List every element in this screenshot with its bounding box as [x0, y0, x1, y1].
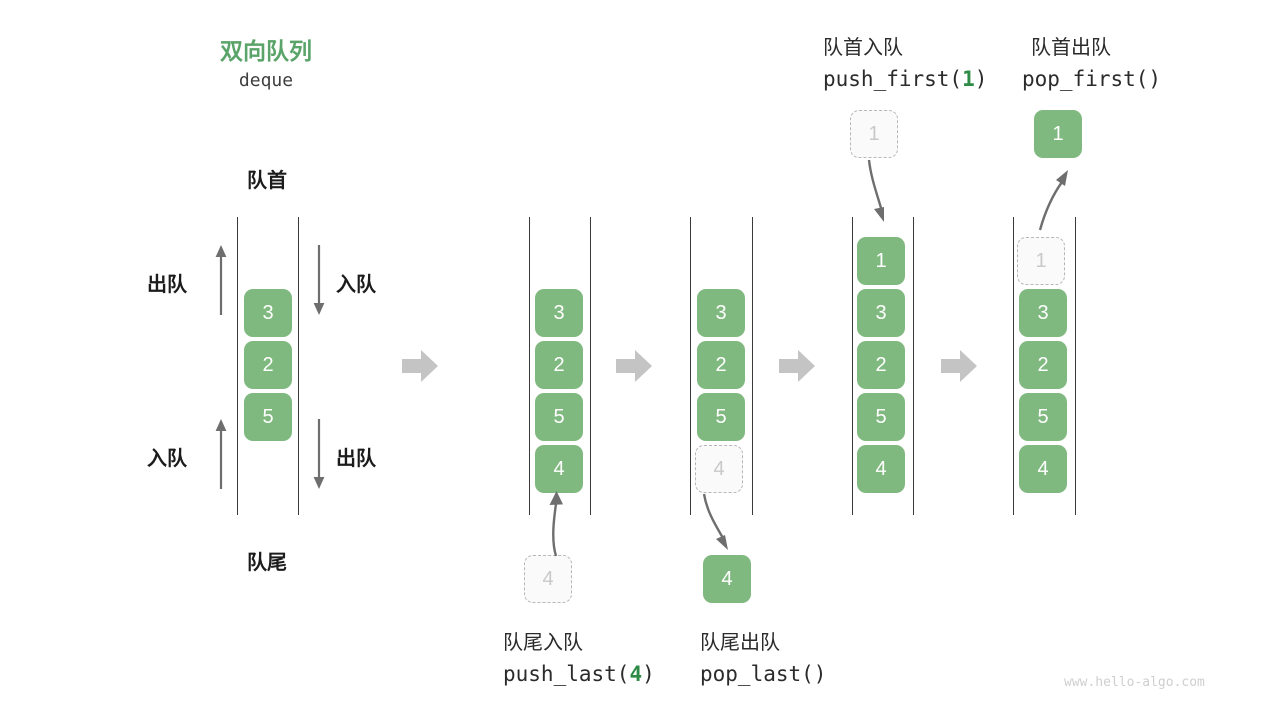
- code-arg: 4: [629, 662, 642, 686]
- deque-item: 5: [1019, 393, 1067, 441]
- code-text: push_first(: [823, 67, 962, 91]
- code-text: ): [642, 662, 655, 686]
- deque-item: 3: [535, 289, 583, 337]
- caption-pop-first-code: pop_first(): [1022, 67, 1161, 91]
- removed-element-ghost: 1: [1017, 237, 1065, 285]
- deque-item: 5: [697, 393, 745, 441]
- deque-diagram: 双向队列 deque 队首 队尾 3 2 5 出队 入队 入队 出队 3 2 5…: [0, 0, 1280, 720]
- code-text: ): [975, 67, 988, 91]
- push-last-motion-arrow-icon: [534, 488, 574, 558]
- caption-push-first-code: push_first(1): [823, 67, 987, 91]
- deque-item: 5: [244, 393, 292, 441]
- diagram-title-en: deque: [166, 70, 366, 91]
- pop-first-motion-arrow-icon: [1018, 160, 1074, 232]
- deque-item: 4: [857, 445, 905, 493]
- deque-item: 3: [697, 289, 745, 337]
- deque-item: 5: [857, 393, 905, 441]
- caption-push-last-code: push_last(4): [503, 662, 655, 686]
- deque-item: 3: [244, 289, 292, 337]
- caption-pop-first-cn: 队首出队: [1031, 31, 1111, 60]
- rail-right-col2: [590, 217, 591, 515]
- code-text: pop_first(): [1022, 67, 1161, 91]
- deque-item: 4: [1019, 445, 1067, 493]
- head-label: 队首: [217, 164, 317, 193]
- deque-item: 2: [244, 341, 292, 389]
- caption-pop-last-code: pop_last(): [700, 662, 826, 686]
- transition-arrow-icon: [616, 350, 652, 382]
- deque-item: 4: [535, 445, 583, 493]
- head-dequeue-arrow-icon: [212, 245, 230, 315]
- head-dequeue-label: 出队: [147, 268, 187, 297]
- outgoing-element: 4: [703, 555, 751, 603]
- code-text: push_last(: [503, 662, 629, 686]
- deque-item: 3: [1019, 289, 1067, 337]
- deque-item: 2: [1019, 341, 1067, 389]
- rail-left-col2: [529, 217, 530, 515]
- incoming-element-ghost: 1: [850, 110, 898, 158]
- outgoing-element: 1: [1034, 110, 1082, 158]
- tail-dequeue-arrow-icon: [310, 419, 328, 489]
- removed-element-ghost: 4: [695, 445, 743, 493]
- rail-right-col4: [913, 217, 914, 515]
- code-arg: 1: [962, 67, 975, 91]
- push-first-motion-arrow-icon: [846, 160, 896, 228]
- deque-item: 3: [857, 289, 905, 337]
- diagram-title-cn: 双向队列: [166, 32, 366, 66]
- transition-arrow-icon: [402, 350, 438, 382]
- rail-right-col5: [1075, 217, 1076, 515]
- rail-left-col1: [237, 217, 238, 515]
- rail-left-col4: [852, 217, 853, 515]
- code-text: pop_last(): [700, 662, 826, 686]
- rail-left-col3: [690, 217, 691, 515]
- tail-label: 队尾: [217, 546, 317, 575]
- transition-arrow-icon: [779, 350, 815, 382]
- rail-right-col3: [752, 217, 753, 515]
- tail-enqueue-label: 入队: [147, 442, 187, 471]
- deque-item: 2: [857, 341, 905, 389]
- deque-item: 1: [857, 237, 905, 285]
- caption-push-last-cn: 队尾入队: [503, 626, 583, 655]
- deque-item: 5: [535, 393, 583, 441]
- head-enqueue-label: 入队: [336, 268, 376, 297]
- tail-enqueue-arrow-icon: [212, 419, 230, 489]
- pop-last-motion-arrow-icon: [692, 494, 742, 554]
- transition-arrow-icon: [941, 350, 977, 382]
- deque-item: 2: [697, 341, 745, 389]
- head-enqueue-arrow-icon: [310, 245, 328, 315]
- rail-left-col5: [1013, 217, 1014, 515]
- tail-dequeue-label: 出队: [336, 442, 376, 471]
- caption-pop-last-cn: 队尾出队: [700, 626, 780, 655]
- incoming-element-ghost: 4: [524, 555, 572, 603]
- caption-push-first-cn: 队首入队: [823, 31, 903, 60]
- deque-item: 2: [535, 341, 583, 389]
- watermark: www.hello-algo.com: [1064, 675, 1205, 690]
- rail-right-col1: [298, 217, 299, 515]
